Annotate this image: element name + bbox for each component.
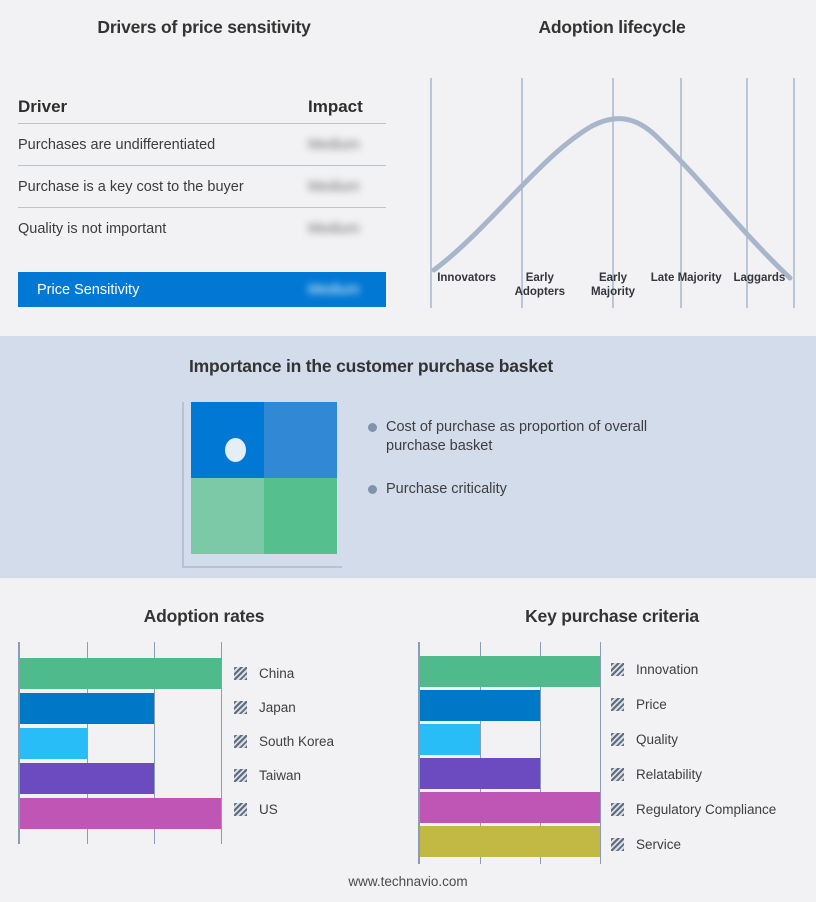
adoption-lifecycle-panel: Adoption lifecycle Innovators Early Adop… bbox=[408, 0, 816, 336]
impact-value: Medium bbox=[308, 221, 386, 237]
legend-item: Japan bbox=[234, 700, 334, 715]
quadrant-cells bbox=[191, 402, 337, 554]
table-header-row: Driver Impact bbox=[18, 90, 386, 124]
legend-item: South Korea bbox=[234, 734, 334, 749]
bar-us bbox=[20, 798, 221, 829]
bar-price bbox=[420, 690, 540, 721]
table-row: Purchases are undifferentiated Medium bbox=[18, 124, 386, 166]
adoption-rates-chart bbox=[18, 642, 221, 844]
basket-title: Importance in the customer purchase bask… bbox=[0, 356, 742, 377]
bar-japan bbox=[20, 693, 154, 724]
bar-innovation bbox=[420, 656, 600, 687]
lifecycle-stage-late-majority: Late Majority bbox=[650, 272, 723, 299]
lifecycle-stage-labels: Innovators Early Adopters Early Majority… bbox=[430, 272, 796, 299]
column-header-impact: Impact bbox=[308, 97, 386, 117]
hatched-swatch-icon bbox=[611, 838, 624, 851]
drivers-table: Driver Impact Purchases are undifferenti… bbox=[18, 90, 386, 249]
price-sensitivity-label: Price Sensitivity bbox=[18, 282, 308, 298]
legend-label: Quality bbox=[636, 732, 678, 747]
top-section: Drivers of price sensitivity Driver Impa… bbox=[0, 0, 816, 336]
legend-label: Purchase criticality bbox=[386, 480, 507, 499]
legend-label: Cost of purchase as proportion of overal… bbox=[386, 418, 648, 456]
column-header-driver: Driver bbox=[18, 97, 308, 117]
quadrant-bottom-left bbox=[191, 478, 264, 554]
legend-label: US bbox=[259, 802, 278, 817]
quadrant-top-left bbox=[191, 402, 264, 478]
quadrant-chart bbox=[182, 402, 342, 568]
bar-china bbox=[20, 658, 221, 689]
bullet-icon bbox=[368, 485, 377, 494]
key-purchase-criteria-panel: Key purchase criteria Innovation bbox=[408, 578, 816, 902]
legend-item: US bbox=[234, 802, 334, 817]
basket-legend: Cost of purchase as proportion of overal… bbox=[368, 418, 668, 523]
driver-label: Purchases are undifferentiated bbox=[18, 137, 308, 153]
adoption-rates-panel: Adoption rates China Japan bbox=[0, 578, 408, 902]
bar-relatability bbox=[420, 758, 540, 789]
driver-label: Quality is not important bbox=[18, 221, 308, 237]
footer-url: www.technavio.com bbox=[0, 874, 816, 889]
legend-label: Innovation bbox=[636, 662, 698, 677]
price-sensitivity-summary-row: Price Sensitivity Medium bbox=[18, 272, 386, 307]
bar-south-korea bbox=[20, 728, 87, 759]
hatched-swatch-icon bbox=[611, 698, 624, 711]
legend-item: Service bbox=[611, 837, 776, 852]
key-purchase-criteria-title: Key purchase criteria bbox=[408, 606, 816, 627]
gridline bbox=[221, 642, 222, 844]
purchase-basket-section: Importance in the customer purchase bask… bbox=[0, 336, 816, 578]
legend-label: Relatability bbox=[636, 767, 702, 782]
legend-item: Innovation bbox=[611, 662, 776, 677]
bullet-icon bbox=[368, 423, 377, 432]
quadrant-bottom-right bbox=[264, 478, 337, 554]
chart-bars bbox=[420, 642, 609, 864]
legend-item: Purchase criticality bbox=[368, 480, 668, 499]
quadrant-position-marker bbox=[225, 438, 246, 462]
hatched-swatch-icon bbox=[611, 733, 624, 746]
hatched-swatch-icon bbox=[611, 768, 624, 781]
lifecycle-stage-early-adopters: Early Adopters bbox=[503, 272, 576, 299]
drivers-title: Drivers of price sensitivity bbox=[0, 17, 408, 38]
legend-item: Regulatory Compliance bbox=[611, 802, 776, 817]
hatched-swatch-icon bbox=[234, 769, 247, 782]
legend-item: Quality bbox=[611, 732, 776, 747]
legend-label: Regulatory Compliance bbox=[636, 802, 776, 817]
legend-item: Relatability bbox=[611, 767, 776, 782]
chart-bars bbox=[20, 642, 221, 844]
legend-label: China bbox=[259, 666, 294, 681]
table-row: Purchase is a key cost to the buyer Medi… bbox=[18, 166, 386, 208]
bar-quality bbox=[420, 724, 480, 755]
legend-item: Cost of purchase as proportion of overal… bbox=[368, 418, 668, 456]
legend-item: Price bbox=[611, 697, 776, 712]
bar-taiwan bbox=[20, 763, 154, 794]
lifecycle-stage-innovators: Innovators bbox=[430, 272, 503, 299]
legend-label: Japan bbox=[259, 700, 296, 715]
bottom-section: Adoption rates China Japan bbox=[0, 578, 816, 902]
price-sensitivity-impact: Medium bbox=[308, 282, 386, 298]
lifecycle-stage-early-majority: Early Majority bbox=[576, 272, 649, 299]
bar-service bbox=[420, 826, 600, 857]
legend-label: Taiwan bbox=[259, 768, 301, 783]
hatched-swatch-icon bbox=[234, 735, 247, 748]
lifecycle-title: Adoption lifecycle bbox=[408, 17, 816, 38]
bell-curve-path bbox=[434, 119, 790, 278]
legend-item: Taiwan bbox=[234, 768, 334, 783]
hatched-swatch-icon bbox=[234, 701, 247, 714]
adoption-rates-title: Adoption rates bbox=[0, 606, 408, 627]
lifecycle-stage-laggards: Laggards bbox=[723, 272, 796, 299]
bar-regulatory-compliance bbox=[420, 792, 600, 823]
table-row: Quality is not important Medium bbox=[18, 208, 386, 249]
legend-label: Service bbox=[636, 837, 681, 852]
key-purchase-criteria-chart bbox=[418, 642, 609, 864]
hatched-swatch-icon bbox=[234, 803, 247, 816]
driver-label: Purchase is a key cost to the buyer bbox=[18, 179, 308, 195]
drivers-panel: Drivers of price sensitivity Driver Impa… bbox=[0, 0, 408, 336]
hatched-swatch-icon bbox=[611, 663, 624, 676]
quadrant-top-right bbox=[264, 402, 337, 478]
key-purchase-criteria-legend: Innovation Price Quality Relatability Re… bbox=[611, 662, 776, 852]
adoption-rates-legend: China Japan South Korea Taiwan US bbox=[234, 666, 334, 817]
impact-value: Medium bbox=[308, 179, 386, 195]
hatched-swatch-icon bbox=[234, 667, 247, 680]
legend-item: China bbox=[234, 666, 334, 681]
legend-label: South Korea bbox=[259, 734, 334, 749]
impact-value: Medium bbox=[308, 137, 386, 153]
hatched-swatch-icon bbox=[611, 803, 624, 816]
legend-label: Price bbox=[636, 697, 667, 712]
